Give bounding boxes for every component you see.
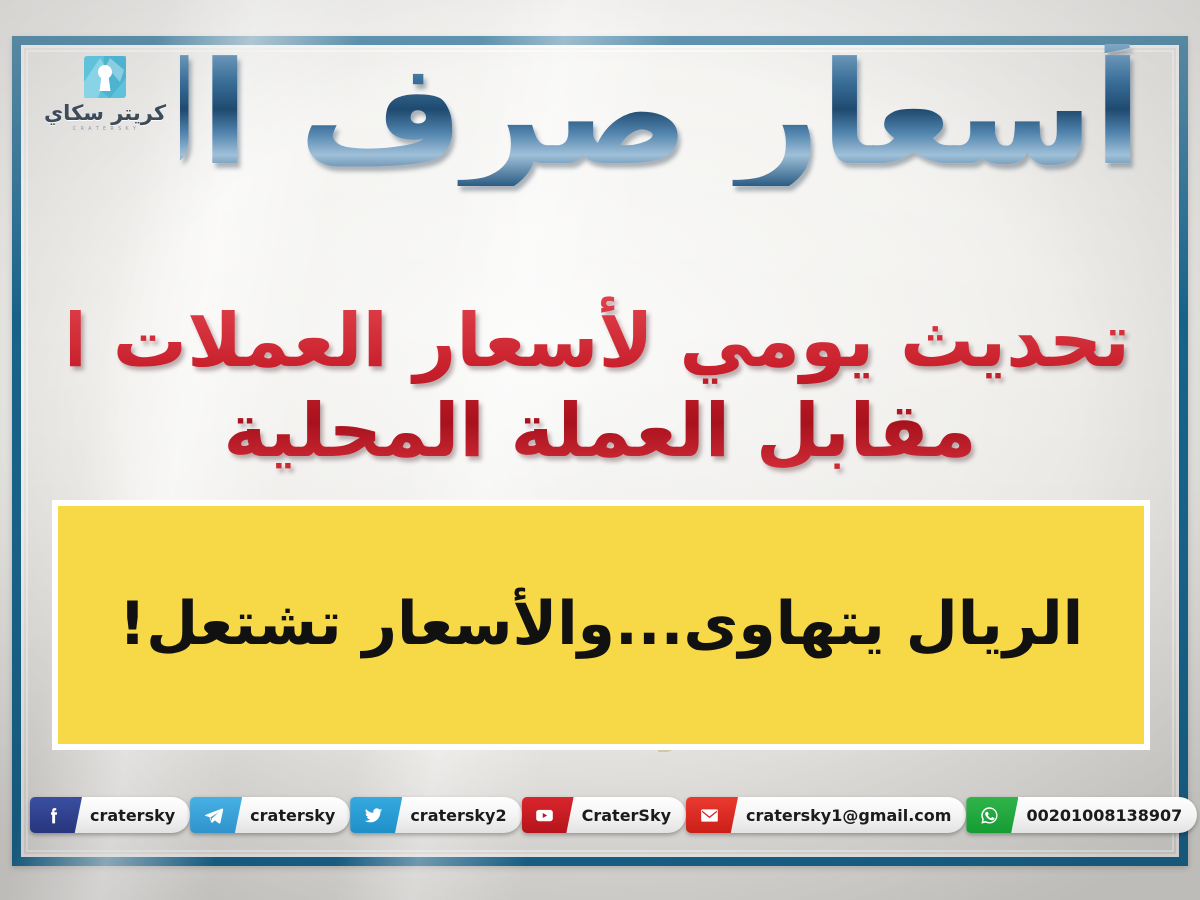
telegram-icon bbox=[190, 797, 242, 833]
social-contact-strip: cratersky cratersky cratersky2 CraterSky bbox=[30, 790, 1170, 840]
social-chip-label: cratersky2 bbox=[388, 797, 521, 833]
youtube-icon bbox=[522, 797, 574, 833]
headline-banner: الريال يتهاوى...والأسعار تشتعل! bbox=[52, 500, 1150, 750]
headline-banner-text: الريال يتهاوى...والأسعار تشتعل! bbox=[79, 588, 1123, 661]
social-chip-label: 00201008138907 bbox=[1004, 797, 1197, 833]
social-chip-youtube[interactable]: CraterSky bbox=[522, 797, 686, 833]
social-chip-label: cratersky1@gmail.com bbox=[724, 797, 966, 833]
social-chip-label: cratersky bbox=[228, 797, 350, 833]
social-chip-whatsapp[interactable]: 00201008138907 bbox=[966, 797, 1197, 833]
page-subtitle: تحديث يومي لأسعار العملات الأجنبية مقابل… bbox=[70, 296, 1130, 477]
page-title: أسعار صرف العملات bbox=[180, 44, 1142, 186]
social-chip-gmail[interactable]: cratersky1@gmail.com bbox=[686, 797, 966, 833]
page-subtitle-line-2: مقابل العملة المحلية bbox=[70, 386, 1130, 476]
brand-logo: كريتر سكاي C R A T E R S K Y bbox=[40, 52, 170, 132]
whatsapp-icon bbox=[966, 797, 1018, 833]
logo-subtitle: C R A T E R S K Y bbox=[40, 126, 170, 132]
logo-wordmark: كريتر سكاي bbox=[40, 103, 170, 124]
twitter-icon bbox=[350, 797, 402, 833]
page-subtitle-line-1: تحديث يومي لأسعار العملات الأجنبية bbox=[0, 298, 1130, 384]
social-chip-facebook[interactable]: cratersky bbox=[30, 797, 190, 833]
gmail-icon bbox=[686, 797, 738, 833]
social-chip-twitter[interactable]: cratersky2 bbox=[350, 797, 521, 833]
social-chip-label: CraterSky bbox=[560, 797, 686, 833]
crater-sky-keyhole-icon bbox=[80, 52, 130, 102]
social-chip-telegram[interactable]: cratersky bbox=[190, 797, 350, 833]
news-card-poster: كريتر سكاي C R A T E R S K Y أسعار صرف ا… bbox=[0, 0, 1200, 900]
facebook-icon bbox=[30, 797, 82, 833]
social-chip-label: cratersky bbox=[68, 797, 190, 833]
